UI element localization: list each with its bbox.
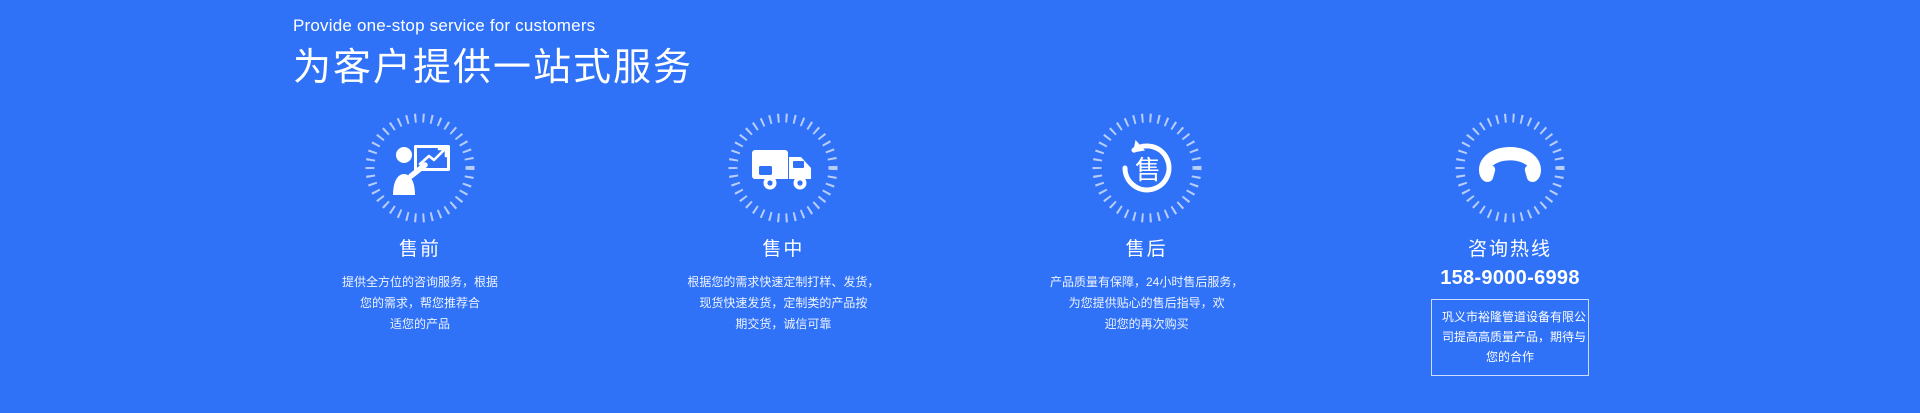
after-sales-arrow-icon: 售 xyxy=(1112,133,1182,203)
banner-eyebrow: Provide one-stop service for customers xyxy=(293,16,693,36)
presale-desc-line-1: 提供全方位的咨询服务，根据 xyxy=(285,272,555,293)
presale-desc: 提供全方位的咨询服务，根据 您的需求，帮您推荐合 适您的产品 xyxy=(285,272,555,335)
aftersale-title: 售后 xyxy=(1126,238,1168,263)
svg-text:售: 售 xyxy=(1135,155,1161,185)
company-line-2: 司提高高质量产品，期待与 xyxy=(1442,327,1578,347)
aftersale-desc: 产品质量有保障，24小时售后服务， 为您提供贴心的售后指导，欢 迎您的再次购买 xyxy=(1012,272,1282,335)
presale-icon-wrap xyxy=(364,112,476,224)
aftersale-desc-line-1: 产品质量有保障，24小时售后服务， xyxy=(1012,272,1282,293)
aftersale-desc-line-3: 迎您的再次购买 xyxy=(1012,314,1282,335)
company-info-box: 巩义市裕隆管道设备有限公 司提高高质量产品，期待与 您的合作 xyxy=(1431,299,1589,376)
delivery-truck-icon xyxy=(748,133,818,203)
service-column-insale: 售中 根据您的需求快速定制打样、发货， 现货快速发货，定制类的产品按 期交货，诚… xyxy=(633,112,933,335)
insale-icon-wrap xyxy=(727,112,839,224)
presale-title: 售前 xyxy=(399,238,441,263)
insale-desc-line-1: 根据您的需求快速定制打样、发货， xyxy=(648,272,918,293)
hotline-title: 咨询热线 xyxy=(1468,238,1552,263)
service-column-hotline: 咨询热线 158-9000-6998 巩义市裕隆管道设备有限公 司提高高质量产品… xyxy=(1360,112,1660,376)
service-column-aftersale: 售 售后 产品质量有保障，24小时售后服务， 为您提供贴心的售后指导，欢 迎您的… xyxy=(997,112,1297,335)
service-columns: 售前 提供全方位的咨询服务，根据 您的需求，帮您推荐合 适您的产品 xyxy=(270,112,1660,376)
insale-desc: 根据您的需求快速定制打样、发货， 现货快速发货，定制类的产品按 期交货，诚信可靠 xyxy=(648,272,918,335)
presale-desc-line-2: 您的需求，帮您推荐合 xyxy=(285,293,555,314)
insale-desc-line-2: 现货快速发货，定制类的产品按 xyxy=(648,293,918,314)
aftersale-desc-line-2: 为您提供贴心的售后指导，欢 xyxy=(1012,293,1282,314)
presenter-board-icon xyxy=(385,133,455,203)
service-column-presale: 售前 提供全方位的咨询服务，根据 您的需求，帮您推荐合 适您的产品 xyxy=(270,112,570,335)
telephone-icon xyxy=(1475,133,1545,203)
insale-desc-line-3: 期交货，诚信可靠 xyxy=(648,314,918,335)
service-banner: Provide one-stop service for customers 为… xyxy=(0,0,1920,413)
banner-header: Provide one-stop service for customers 为… xyxy=(293,16,693,93)
hotline-phone-number: 158-9000-6998 xyxy=(1440,265,1580,291)
banner-headline: 为客户提供一站式服务 xyxy=(293,45,693,93)
company-line-3: 您的合作 xyxy=(1442,347,1578,367)
presale-desc-line-3: 适您的产品 xyxy=(285,314,555,335)
insale-title: 售中 xyxy=(762,238,804,263)
hotline-icon-wrap xyxy=(1454,112,1566,224)
aftersale-icon-wrap: 售 xyxy=(1091,112,1203,224)
company-line-1: 巩义市裕隆管道设备有限公 xyxy=(1442,307,1578,327)
